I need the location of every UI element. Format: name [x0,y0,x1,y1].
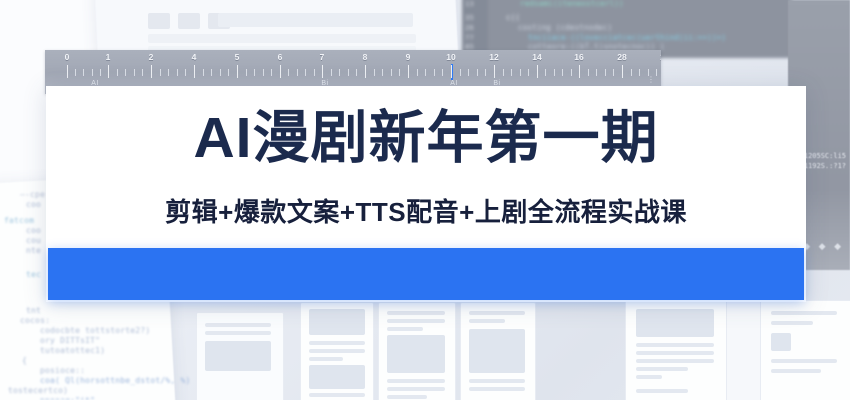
ruler-minor-tick [639,69,640,76]
ruler-minor-tick [656,69,657,76]
ruler-number: 2 [149,52,154,62]
code-line: —-cpe [20,190,45,199]
ruler-minor-tick [554,69,555,76]
accent-banner [48,248,804,300]
ruler-minor-tick [425,69,426,76]
code-line: c(( [506,13,520,22]
ruler-minor-tick [177,69,178,76]
ruler-minor-tick [314,69,315,76]
ruler-minor-tick [75,69,76,76]
ruler-minor-tick [220,69,221,76]
side-panel-line: s1192S.:?1? [800,162,846,170]
ruler-number: 10 [446,52,455,62]
ruler-major-tick [579,65,580,78]
ruler-minor-tick [485,69,486,76]
ruler-minor-tick [399,69,400,76]
ruler-major-tick [67,65,68,78]
ruler-minor-tick [134,69,135,76]
ruler-number: 16 [574,52,583,62]
ruler-minor-tick [297,69,298,76]
background-skeleton-card [196,312,284,400]
ruler-minor-tick [503,69,504,76]
ruler-number: 29 [660,52,661,62]
ruler-minor-tick [631,69,632,76]
ruler-major-tick [108,65,109,78]
ruler-minor-tick [613,69,614,76]
code-line: codocbte tottstorte2?) [40,326,150,335]
background-skeleton-card [378,302,456,400]
ruler-minor-tick [100,69,101,76]
ruler-number: 28 [617,52,626,62]
ruler-major-tick [537,65,538,78]
code-line: tostecertco) [8,386,68,395]
ruler-number: 7 [320,52,325,62]
side-panel-line: s1205SC:li5 [800,152,846,160]
ruler-minor-tick [596,69,597,76]
ruler-minor-tick [571,69,572,76]
code-line: tec [26,270,41,279]
ruler-minor-tick [528,69,529,76]
ruler-minor-tick [648,69,649,76]
code-line: tnciiace-((lovecciatcec(uerthind(ii:>>))… [528,33,726,42]
ruler-minor-tick [356,69,357,76]
ruler-minor-tick [382,69,383,76]
ruler-minor-tick [331,69,332,76]
ruler-major-tick [194,65,195,78]
ruler-minor-tick [442,69,443,76]
code-line: pnooag:"it" [40,396,95,400]
ruler-major-tick [494,65,495,78]
code-line-number: 26 [465,24,474,32]
ruler-minor-tick [160,69,161,76]
ruler-minor-tick [339,69,340,76]
ruler-number: 5 [235,52,240,62]
ruler-minor-tick [477,69,478,76]
ruler-minor-tick [117,69,118,76]
ruler-minor-tick [391,69,392,76]
code-line: coo [26,200,41,209]
ruler-number: 4 [192,52,197,62]
ruler-major-tick [622,65,623,78]
ruler-minor-tick [168,69,169,76]
page-title: AI漫剧新年第一期 [46,110,806,167]
code-line-number: 13 [465,0,474,8]
background-skeleton-card [460,302,536,400]
page-subtitle: 剪辑+爆款文案+TTS配音+上剧全流程实战课 [46,192,806,229]
background-skeleton-card [760,300,850,400]
ruler-major-tick [322,65,323,78]
screenshot-canvas: 13 35 26 77 85 redsami(iteneostcerl)) c(… [0,0,850,400]
ruler-major-tick [365,65,366,78]
code-line: cocos: [20,316,50,325]
code-line: costing (cdestnodec) [518,23,612,32]
vertical-ellipsis-icon[interactable]: ⋮ [647,78,655,81]
ruler-minor-tick [142,69,143,76]
code-line: tutoatottec1) [40,346,105,355]
code-line: nte [26,246,41,255]
ruler-minor-tick [562,69,563,76]
ruler-minor-tick [246,69,247,76]
background-search-chip [218,13,413,27]
background-row-chip [148,34,416,43]
ruler-minor-tick [83,69,84,76]
code-line-number: 35 [465,14,474,22]
background-toolbar-chip [148,13,170,29]
ruler-minor-tick [520,69,521,76]
ruler-number: 12 [489,52,498,62]
ruler-major-tick [408,65,409,78]
code-line: cou [26,236,41,245]
code-line: ory DITTsIT" [40,336,100,345]
diamond-row-icon: ◆ ◆ ◆ [803,241,844,252]
ruler-minor-tick [588,69,589,76]
ruler-minor-tick [185,69,186,76]
code-line: redsami(iteneostcerl)) [520,0,624,8]
ruler-minor-tick [228,69,229,76]
code-line: { [22,356,27,365]
background-skeleton-card [300,302,374,400]
ruler-minor-tick [374,69,375,76]
ruler-minor-tick [605,69,606,76]
ruler-minor-tick [125,69,126,76]
promo-card: AI漫剧新年第一期 剪辑+爆款文案+TTS配音+上剧全流程实战课 [46,86,806,302]
background-skeleton-card [625,300,727,400]
ruler-major-tick [451,65,452,78]
ruler-minor-tick [271,69,272,76]
ruler-minor-tick [348,69,349,76]
code-line: coo [26,226,41,235]
ruler-number: 14 [532,52,541,62]
ruler-minor-tick [203,69,204,76]
ruler-minor-tick [263,69,264,76]
code-line-number: 77 [465,34,474,42]
ruler-minor-tick [288,69,289,76]
ruler-major-tick [151,65,152,78]
ruler-minor-tick [92,69,93,76]
ruler-number: 8 [363,52,368,62]
code-line: coa( Ql(horsottnbe_dstot/%, %) [40,376,191,385]
ruler-minor-tick [545,69,546,76]
background-toolbar-chip [178,13,200,29]
code-line: fatcom [4,216,34,225]
ruler-minor-tick [254,69,255,76]
ruler-number: 6 [278,52,283,62]
ruler-number: 1 [106,52,111,62]
ruler-minor-tick [211,69,212,76]
ruler-number: 9 [406,52,411,62]
ruler-number: 0 [65,52,70,62]
ruler-minor-tick [417,69,418,76]
code-line: posioce:: [40,366,85,375]
ruler-major-tick [237,65,238,78]
ruler-minor-tick [511,69,512,76]
ruler-major-tick [280,65,281,78]
ruler-minor-tick [460,69,461,76]
code-line: tnt [26,306,41,315]
ruler-minor-tick [468,69,469,76]
ruler-minor-tick [434,69,435,76]
ruler-minor-tick [305,69,306,76]
